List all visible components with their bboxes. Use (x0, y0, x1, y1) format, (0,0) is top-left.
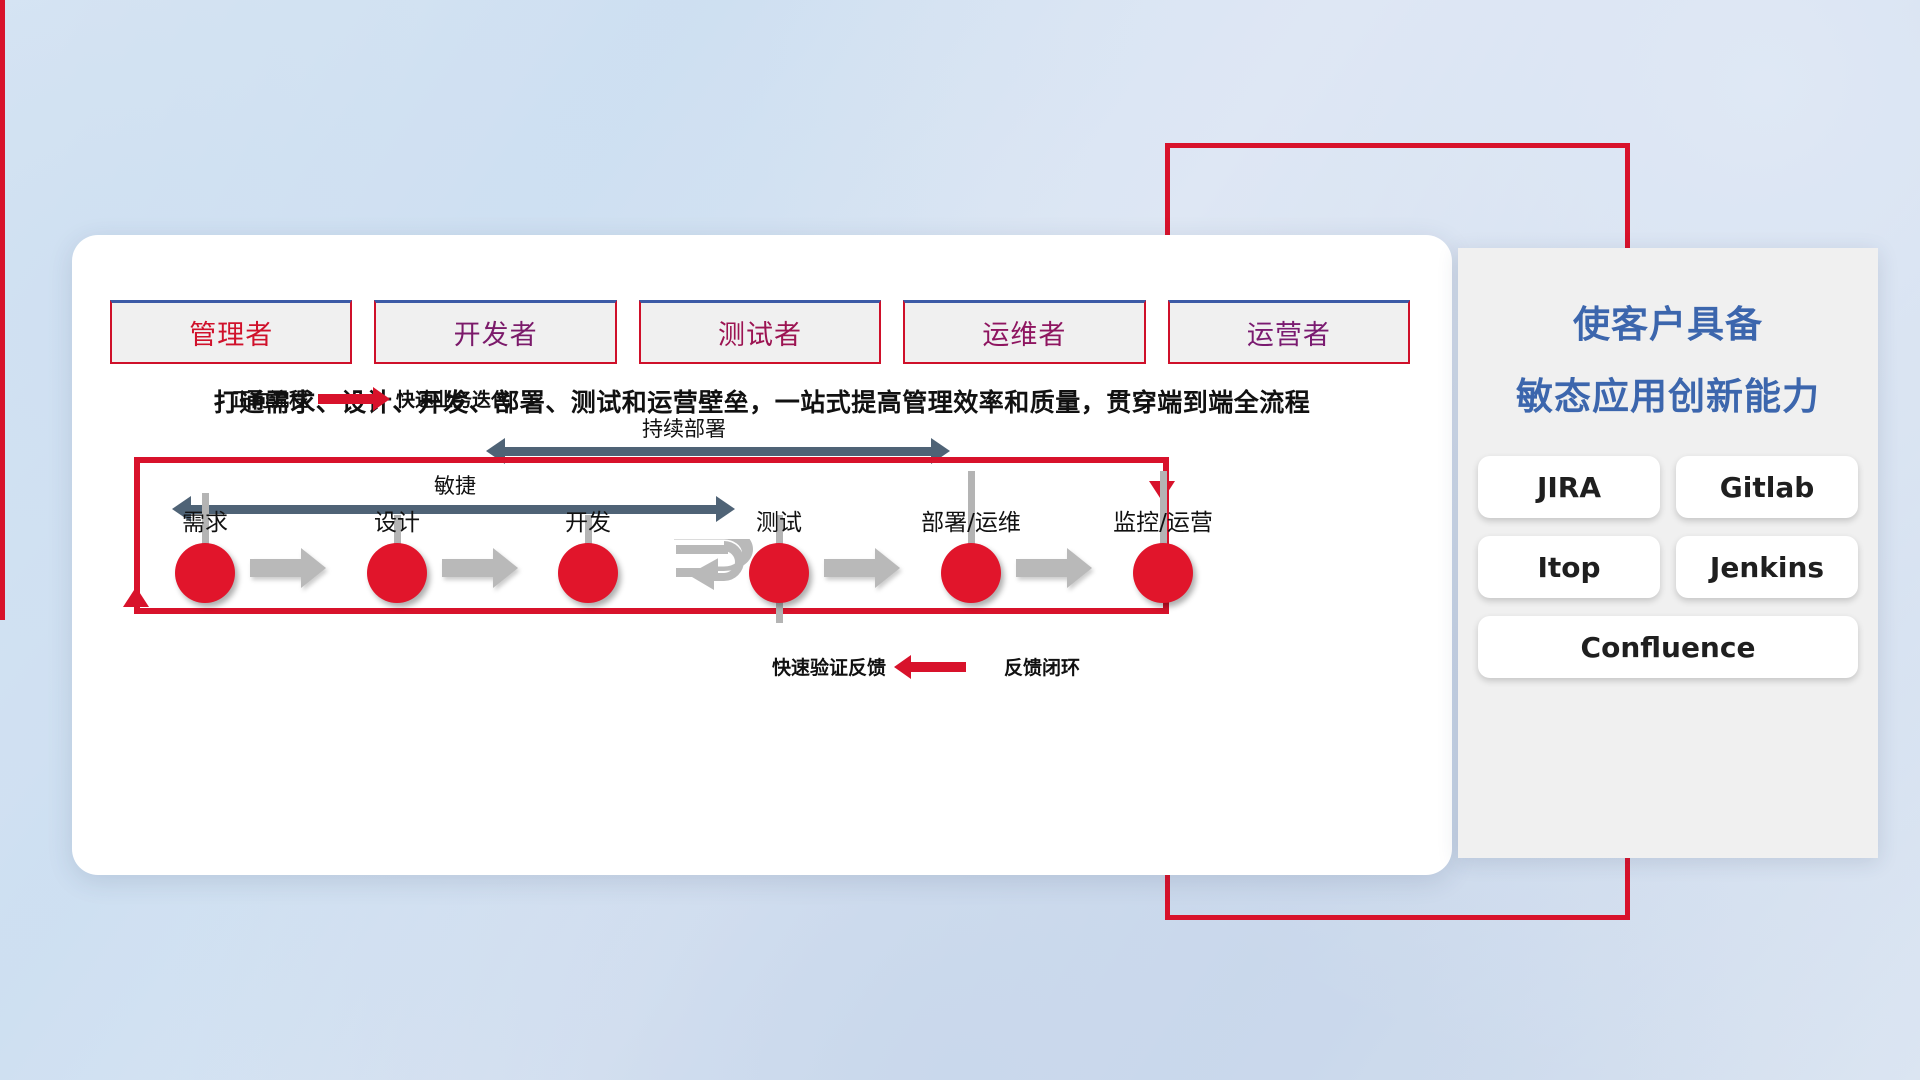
stage-requirement[interactable]: 需求 (130, 503, 280, 603)
role-box-operations[interactable]: 运营者 (1168, 300, 1410, 364)
panel-heading-line1: 使客户具备 (1458, 294, 1878, 348)
label-continuous-deploy: 持续部署 (642, 413, 726, 443)
arrow-continuous-deploy (504, 447, 932, 456)
legend-forward-flow: 正向流程 快速业务迭代 (232, 385, 510, 412)
arrow-grey-icon (824, 559, 876, 577)
stage-label: 测试 (704, 503, 854, 537)
tools-panel: 使客户具备 敏态应用创新能力 JIRA Gitlab Itop Jenkins … (1458, 248, 1878, 858)
legend-feedback-right-label: 反馈闭环 (1004, 653, 1080, 680)
role-box-row: 管理者 开发者 测试者 运维者 运营者 (110, 300, 1410, 364)
tool-button-confluence[interactable]: Confluence (1478, 616, 1858, 678)
main-card: 管理者 开发者 测试者 运维者 运营者 打通需求、设计、开发、部署、测试和运营壁… (72, 235, 1452, 875)
role-label: 开发者 (454, 313, 538, 352)
legend-feedback-loop: 快速验证反馈 反馈闭环 (772, 653, 1080, 680)
stage-dot (749, 543, 809, 603)
stage-testing[interactable]: 测试 (704, 503, 854, 603)
stage-dot (175, 543, 235, 603)
tool-button-jira[interactable]: JIRA (1478, 456, 1660, 518)
arrow-grey-icon (250, 559, 302, 577)
stage-dot (558, 543, 618, 603)
role-box-developer[interactable]: 开发者 (374, 300, 616, 364)
role-box-ops[interactable]: 运维者 (903, 300, 1145, 364)
tool-button-gitlab[interactable]: Gitlab (1676, 456, 1858, 518)
role-box-manager[interactable]: 管理者 (110, 300, 352, 364)
tool-button-grid: JIRA Gitlab Itop Jenkins Confluence (1478, 456, 1858, 678)
role-label: 运营者 (1247, 313, 1331, 352)
stage-dot (941, 543, 1001, 603)
stage-label: 监控/运营 (1088, 503, 1238, 537)
slide-canvas: 管理者 开发者 测试者 运维者 运营者 打通需求、设计、开发、部署、测试和运营壁… (0, 0, 1920, 1080)
stage-dot (1133, 543, 1193, 603)
arrow-right-red-icon (318, 394, 374, 404)
arrow-grey-icon (442, 559, 494, 577)
stage-dot (367, 543, 427, 603)
role-label: 测试者 (718, 313, 802, 352)
pipeline: 需求 设计 开发 (110, 503, 1420, 633)
connector-bracket-right (0, 0, 5, 620)
role-box-tester[interactable]: 测试者 (639, 300, 881, 364)
stage-label: 部署/运维 (896, 503, 1046, 537)
tool-button-itop[interactable]: Itop (1478, 536, 1660, 598)
role-label: 运维者 (982, 313, 1066, 352)
stage-label: 开发 (513, 503, 663, 537)
stage-monitor-operations[interactable]: 监控/运营 (1088, 503, 1238, 603)
stage-deploy-ops[interactable]: 部署/运维 (896, 503, 1046, 603)
stage-label: 设计 (322, 503, 472, 537)
arrow-grey-icon (1016, 559, 1068, 577)
role-label: 管理者 (189, 313, 273, 352)
stage-label: 需求 (130, 503, 280, 537)
arrow-left-red-icon (910, 662, 966, 672)
legend-feedback-left-label: 快速验证反馈 (772, 653, 886, 680)
stage-design[interactable]: 设计 (322, 503, 472, 603)
stage-development[interactable]: 开发 (513, 503, 663, 603)
panel-heading-line2: 敏态应用创新能力 (1458, 366, 1878, 420)
legend-forward-left-label: 正向流程 (232, 385, 308, 412)
tool-button-jenkins[interactable]: Jenkins (1676, 536, 1858, 598)
legend-forward-right-label: 快速业务迭代 (396, 385, 510, 412)
